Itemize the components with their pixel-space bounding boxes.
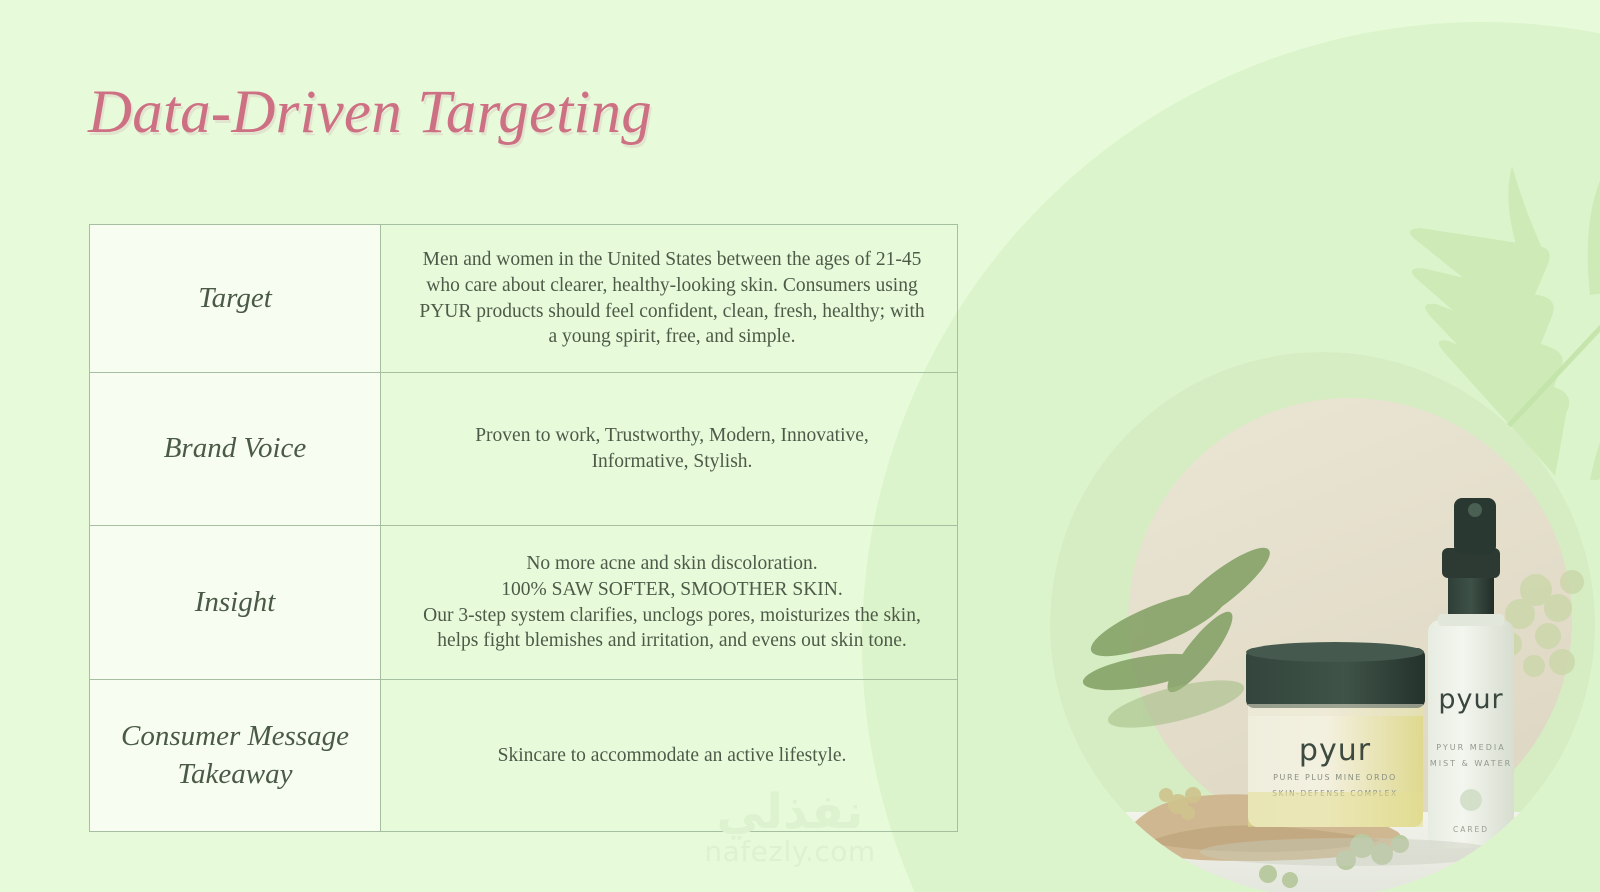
body-line: Skincare to accommodate an active lifest… xyxy=(403,743,941,769)
table-row: Consumer Message Takeaway Skincare to ac… xyxy=(90,680,958,832)
body-line: who care about clearer, healthy-looking … xyxy=(403,273,941,299)
svg-text:MIST & WATER: MIST & WATER xyxy=(1430,759,1512,768)
svg-text:PURE PLUS MINE ORDO: PURE PLUS MINE ORDO xyxy=(1273,773,1397,782)
row-label-consumer-message-takeaway: Consumer Message Takeaway xyxy=(90,680,381,832)
body-line: 100% SAW SOFTER, SMOOTHER SKIN. xyxy=(403,577,941,603)
table-row: Brand Voice Proven to work, Trustworthy,… xyxy=(90,373,958,526)
body-line: PYUR products should feel confident, cle… xyxy=(403,299,941,325)
svg-text:pyur: pyur xyxy=(1438,684,1503,715)
svg-text:pyur: pyur xyxy=(1299,733,1371,768)
product-photo: pyur PURE PLUS MINE ORDO SKIN-DEFENSE CO… xyxy=(1050,352,1595,892)
page-title: Data-Driven Targeting xyxy=(88,78,652,148)
body-line: Men and women in the United States betwe… xyxy=(403,247,941,273)
svg-text:CARED: CARED xyxy=(1453,825,1489,834)
row-label-insight: Insight xyxy=(90,526,381,680)
row-body-brand-voice: Proven to work, Trustworthy, Modern, Inn… xyxy=(381,373,958,526)
row-body-consumer-message-takeaway: Skincare to accommodate an active lifest… xyxy=(381,680,958,832)
watermark-url: nafezly.com xyxy=(690,836,890,868)
svg-text:PYUR MEDIA: PYUR MEDIA xyxy=(1436,743,1505,752)
row-body-target: Men and women in the United States betwe… xyxy=(381,225,958,373)
body-line: helps fight blemishes and irritation, an… xyxy=(403,628,941,654)
row-label-target: Target xyxy=(90,225,381,373)
body-line: a young spirit, free, and simple. xyxy=(403,324,941,350)
body-line: No more acne and skin discoloration. xyxy=(403,551,941,577)
body-line: Our 3-step system clarifies, unclogs por… xyxy=(403,603,941,629)
table-row: Target Men and women in the United State… xyxy=(90,225,958,373)
row-label-line: Takeaway xyxy=(178,758,293,790)
slide-canvas: Data-Driven Targeting Target Men and wom… xyxy=(0,0,1600,892)
body-line: Informative, Stylish. xyxy=(403,449,941,475)
row-label-line: Consumer Message xyxy=(121,720,349,752)
targeting-table: Target Men and women in the United State… xyxy=(89,224,958,832)
table-row: Insight No more acne and skin discolorat… xyxy=(90,526,958,680)
row-body-insight: No more acne and skin discoloration. 100… xyxy=(381,526,958,680)
body-line: Proven to work, Trustworthy, Modern, Inn… xyxy=(403,423,941,449)
row-label-brand-voice: Brand Voice xyxy=(90,373,381,526)
